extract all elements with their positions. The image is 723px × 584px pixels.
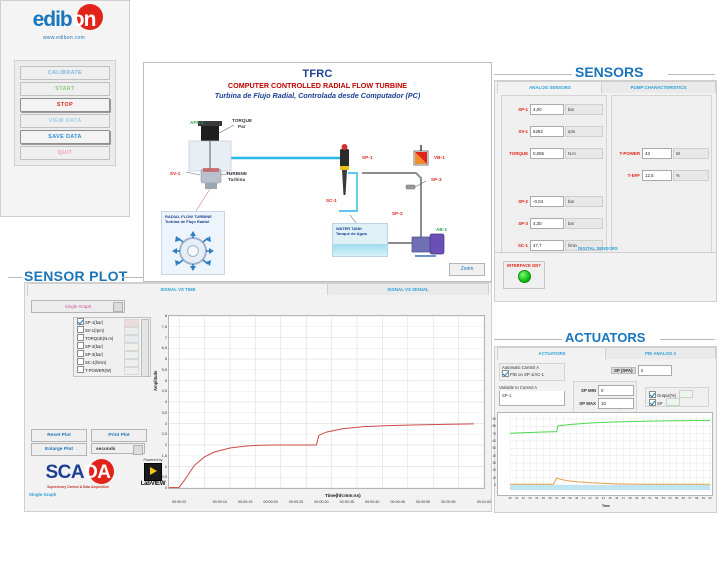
pump-field-t-power: T-POWER43W bbox=[614, 148, 709, 159]
pid-x-tick: 58 bbox=[695, 496, 698, 500]
command-button-stop[interactable]: STOP bbox=[20, 98, 110, 112]
pid-x-tick: 54 bbox=[668, 496, 671, 500]
signal-chart-svg bbox=[169, 316, 484, 488]
diagram-title-block: TFRC COMPUTER CONTROLLED RADIAL FLOW TUR… bbox=[144, 68, 491, 100]
pid-x-tick: 42 bbox=[588, 496, 591, 500]
process-diagram: TFRC COMPUTER CONTROLLED RADIAL FLOW TUR… bbox=[143, 62, 492, 282]
plot-option-swatch bbox=[679, 390, 693, 398]
pid-x-tick: 35 bbox=[542, 496, 545, 500]
label-sc-1: SC-1 bbox=[326, 198, 337, 203]
sensor-plot-rule-left bbox=[8, 277, 22, 278]
command-button-quit[interactable]: QUIT bbox=[20, 146, 110, 160]
pid-x-tick: 57 bbox=[688, 496, 691, 500]
pid-x-tick: 59 bbox=[702, 496, 705, 500]
label-sp-2: SP-2 bbox=[392, 211, 403, 216]
chart-y-tick: 7 bbox=[145, 335, 167, 340]
legend-swatch bbox=[124, 367, 139, 375]
tab-analog-sensors[interactable]: ANALOG SENSORS bbox=[497, 81, 603, 94]
pid-x-tick: 46 bbox=[615, 496, 618, 500]
sensor-value-torque: 0,065 bbox=[530, 148, 564, 159]
pid-x-tick: 41 bbox=[582, 496, 585, 500]
legend-items: SP-1(bar)SV-1(rpm)TORQUE(N.m)SP-2(bar)SP… bbox=[74, 318, 150, 374]
limit-value[interactable]: 0 bbox=[598, 385, 634, 396]
pump-value-t-power: 43 bbox=[642, 148, 672, 159]
legend-item-sp1bar[interactable]: SP-1(bar) bbox=[74, 318, 150, 326]
legend-label: TORQUE(N.m) bbox=[85, 336, 113, 341]
plot-tabbar: SIGNAL VS TIMESIGNAL VS SIGNAL bbox=[25, 283, 491, 296]
label-sp-1: SP-1 bbox=[362, 155, 373, 160]
automatic-control-checkbox[interactable]: PID on SP-1/AC-1 bbox=[500, 370, 564, 377]
zoom-button[interactable]: Zoom bbox=[449, 263, 485, 276]
chart-y-tick: 4 bbox=[145, 399, 167, 404]
chart-y-tick: 7,5 bbox=[145, 324, 167, 329]
legend-item-sv1rpm[interactable]: SV-1(rpm) bbox=[74, 326, 150, 334]
status-led-green bbox=[518, 270, 531, 283]
limit-sp-min: SP MIN0 bbox=[576, 385, 634, 396]
edibon-url: www.edibon.com bbox=[0, 35, 128, 41]
chart-x-tick: 00:00:55 bbox=[441, 500, 455, 504]
label-sp-3: SP-3 bbox=[431, 177, 442, 182]
turbine-box-label-es: Turbina de Flujo Radial bbox=[165, 219, 209, 224]
plot-options-box: Output(%)SP bbox=[645, 387, 709, 407]
chart-x-tick: 00:00:02 bbox=[172, 500, 186, 504]
time-unit-value: seconds bbox=[96, 447, 115, 452]
tank-label-es: Tanque de Agua bbox=[336, 231, 367, 236]
pid-x-tick: 56 bbox=[682, 496, 685, 500]
chart-y-tick: 6,5 bbox=[145, 345, 167, 350]
actuators-tabbar: ACTUATORSPID ANALOG 1 bbox=[495, 347, 716, 359]
sensor-field-sp-3: SP-34,30bar bbox=[506, 218, 603, 229]
label-torque-en: TORQUE bbox=[232, 118, 252, 123]
tab-pump-characteristics[interactable]: PUMP CHARACTERISTICS bbox=[601, 81, 716, 93]
pid-x-tick: 43 bbox=[595, 496, 598, 500]
chart-x-tick: 00:00:20 bbox=[263, 500, 277, 504]
legend-label: SC-1(l/min) bbox=[85, 360, 106, 365]
label-turbine-en: TURBINE bbox=[226, 171, 247, 176]
sensor-field-sv-1: SV-16282rpm bbox=[506, 126, 603, 137]
digital-sensors-panel: INTERFACE ON? bbox=[494, 252, 717, 302]
limit-value[interactable]: 10 bbox=[598, 398, 634, 409]
legend-item-sp3bar[interactable]: SP-3(bar) bbox=[74, 350, 150, 358]
sensor-unit-torque: N.m bbox=[565, 148, 603, 159]
time-unit-chevron-icon bbox=[133, 445, 143, 455]
variable-to-control-value: SP-1 bbox=[500, 391, 564, 398]
sensor-label-torque: TORQUE bbox=[506, 151, 528, 156]
command-button-start[interactable]: START bbox=[20, 82, 110, 96]
label-sv-1: SV-1 bbox=[170, 171, 180, 176]
chart-x-tick: 00:00:10 bbox=[213, 500, 227, 504]
scada-logo: SCADA Supervisory Control & Data Acquisi… bbox=[30, 462, 126, 489]
radial-turbine-illustration: RADIAL FLOW TURBINE Turbina de Flujo Rad… bbox=[161, 211, 225, 275]
chart-x-axis-title: Time(hh:mm:ss) bbox=[325, 493, 361, 498]
pid-x-tick: 36 bbox=[548, 496, 551, 500]
actuators-rule-left bbox=[494, 339, 562, 340]
pid-x-tick: 30 bbox=[508, 496, 511, 500]
pid-x-axis: 3031323334353637383940414243444546474849… bbox=[498, 495, 712, 501]
legend-label: SP-1(bar) bbox=[85, 320, 103, 325]
pump-label-t-power: T-POWER bbox=[614, 151, 640, 156]
sensor-field-sp-2: SP-2-0,04bar bbox=[506, 196, 603, 207]
pid-x-tick: 37 bbox=[555, 496, 558, 500]
checkbox-glyph bbox=[77, 342, 84, 349]
command-button-view-data[interactable]: VIEW DATA bbox=[20, 114, 110, 128]
sensor-label-sv-1: SV-1 bbox=[506, 129, 528, 134]
command-panel: edibon www.edibon.com CALIBRATESTARTSTOP… bbox=[0, 0, 130, 217]
legend-label: SV-1(rpm) bbox=[85, 328, 104, 333]
sensor-unit-sv-1: rpm bbox=[565, 126, 603, 137]
sensor-label-sp-1: SP-1 bbox=[506, 107, 528, 112]
legend-item-torquenm[interactable]: TORQUE(N.m) bbox=[74, 334, 150, 342]
legend-label: SP-3(bar) bbox=[85, 352, 103, 357]
setpoint-field[interactable]: SP (SPA) 4 bbox=[611, 365, 672, 376]
pid-x-tick: 55 bbox=[675, 496, 678, 500]
checkbox-glyph bbox=[77, 326, 84, 333]
label-afr-1: AFR-1 bbox=[190, 120, 204, 125]
limit-label: SP MIN bbox=[576, 388, 596, 393]
sensors-rule-right bbox=[668, 74, 715, 75]
turbine-wheel-icon bbox=[162, 229, 224, 273]
chart-y-tick: 3 bbox=[145, 421, 167, 426]
tab-signal-vs-signal[interactable]: SIGNAL VS SIGNAL bbox=[327, 283, 489, 295]
checkbox-glyph bbox=[649, 391, 656, 398]
label-torque-es: Par bbox=[238, 124, 246, 129]
chart-x-tick: 00:00:35 bbox=[340, 500, 354, 504]
signal-legend: SP-1(bar)SV-1(rpm)TORQUE(N.m)SP-2(bar)SP… bbox=[73, 317, 151, 377]
chart-y-tick: 2 bbox=[145, 442, 167, 447]
checkbox-glyph bbox=[77, 318, 84, 325]
checkbox-glyph bbox=[77, 350, 84, 357]
sensors-title: SENSORS bbox=[575, 64, 643, 80]
pid-x-tick: 52 bbox=[655, 496, 658, 500]
chart-y-axis-title: Amplitude bbox=[153, 371, 158, 391]
chart-y-tick: 8 bbox=[145, 313, 167, 318]
diagram-code: TFRC bbox=[144, 68, 491, 80]
plot-option-output[interactable]: Output(%) bbox=[649, 390, 693, 398]
setpoint-limits-box: SP MIN0SP MAX10 bbox=[573, 381, 637, 413]
sensor-unit-sp-2: bar bbox=[565, 196, 603, 207]
pump-label-t-eff: T-EFF bbox=[614, 173, 640, 178]
legend-item-sc1lmin[interactable]: SC-1(l/min) bbox=[74, 358, 150, 366]
sensor-unit-sp-3: bar bbox=[565, 218, 603, 229]
legend-label: SP-2(bar) bbox=[85, 344, 103, 349]
sensors-rule-left bbox=[494, 74, 572, 75]
pid-x-tick: 60 bbox=[708, 496, 711, 500]
digital-sensor-label: INTERFACE ON? bbox=[504, 262, 544, 268]
chart-x-tick: 00:00:25 bbox=[289, 500, 303, 504]
command-button-stack: CALIBRATESTARTSTOPVIEW DATASAVE DATAQUIT bbox=[14, 60, 116, 166]
checkbox-glyph bbox=[649, 399, 656, 406]
scada-logo-text: SCA bbox=[45, 462, 84, 483]
sensor-label-sp-2: SP-2 bbox=[506, 199, 528, 204]
scada-application-window: edibon www.edibon.com CALIBRATESTARTSTOP… bbox=[0, 0, 723, 584]
chart-x-tick: 00:00:45 bbox=[390, 500, 404, 504]
time-unit-select[interactable]: seconds bbox=[91, 443, 145, 454]
tab-pid-analog-1[interactable]: PID ANALOG 1 bbox=[605, 347, 716, 359]
pid-x-tick: 49 bbox=[635, 496, 638, 500]
limit-sp-max: SP MAX10 bbox=[576, 398, 634, 409]
chart-x-tick: 00:00:30 bbox=[314, 500, 328, 504]
plot-option-label: SP bbox=[657, 401, 663, 406]
checkbox-glyph bbox=[77, 358, 84, 365]
sensor-label-sp-3: SP-3 bbox=[506, 221, 528, 226]
sensors-tabbar: ANALOG SENSORSPUMP CHARACTERISTICS bbox=[495, 81, 716, 93]
pid-x-tick: 53 bbox=[662, 496, 665, 500]
pid-x-tick: 44 bbox=[602, 496, 605, 500]
pump-unit-t-power: W bbox=[673, 148, 709, 159]
graph-mode-value: Single Graph bbox=[65, 304, 92, 309]
pid-x-tick: 47 bbox=[622, 496, 625, 500]
legend-label: T-POWER(W) bbox=[85, 368, 111, 373]
pid-x-tick: 33 bbox=[528, 496, 531, 500]
powered-by-label: Powered by bbox=[132, 458, 174, 462]
sensor-value-sc-1: 47,7 bbox=[530, 240, 564, 251]
digital-sensor-interface-on: INTERFACE ON? bbox=[503, 261, 545, 289]
plot-option-sp[interactable]: SP bbox=[649, 398, 680, 406]
scada-logo-text2: DA bbox=[84, 462, 110, 483]
chart-x-tick: 00:00:40 bbox=[365, 500, 379, 504]
checkbox-glyph bbox=[502, 370, 509, 377]
diagram-title-es: Turbina de Flujo Radial, Controlada desd… bbox=[144, 91, 491, 100]
diagram-title-en: COMPUTER CONTROLLED RADIAL FLOW TURBINE bbox=[144, 81, 491, 90]
chart-x-tick: 00:00:15 bbox=[238, 500, 252, 504]
pump-field-t-eff: T-EFF12,5% bbox=[614, 170, 709, 181]
water-tank: WATER TANK Tanque de Agua bbox=[332, 223, 388, 257]
label-vb-1: VB-1 bbox=[434, 155, 445, 160]
chart-y-tick: 6 bbox=[145, 356, 167, 361]
automatic-control-check-label: PID on SP-1/AC-1 bbox=[510, 372, 544, 377]
chart-x-tick: 00:00:50 bbox=[416, 500, 430, 504]
checkbox-glyph bbox=[77, 366, 84, 373]
label-turbine-es: Turbina bbox=[228, 177, 245, 182]
pid-chart-svg bbox=[498, 413, 712, 495]
sensor-value-sp-2: -0,04 bbox=[530, 196, 564, 207]
variable-to-control-label: Variable to Control A bbox=[499, 385, 537, 390]
tank-water bbox=[333, 244, 387, 256]
actuators-title: ACTUATORS bbox=[565, 330, 645, 345]
reset-plot-button[interactable]: Reset Plot bbox=[31, 429, 87, 442]
chart-y-tick: 2,5 bbox=[145, 431, 167, 436]
command-button-save-data[interactable]: SAVE DATA bbox=[20, 130, 110, 144]
sensor-label-sc-1: SC-1 bbox=[506, 243, 528, 248]
digital-sensors-label: DIGITAL SENSORS bbox=[578, 246, 618, 251]
setpoint-label: SP (SPA) bbox=[611, 367, 636, 374]
enlarge-plot-button[interactable]: Enlarge Plot bbox=[31, 443, 87, 456]
legend-item-tpowerw[interactable]: T-POWER(W) bbox=[74, 366, 150, 374]
pid-x-tick: 40 bbox=[575, 496, 578, 500]
automatic-control-box: Automatic Control A PID on SP-1/AC-1 bbox=[499, 363, 565, 381]
pid-chart: 9080706050403020100 30313233343536373839… bbox=[497, 412, 713, 496]
tab-signal-vs-time[interactable]: SIGNAL VS TIME bbox=[27, 283, 329, 296]
label-ab-1: AB-1 bbox=[436, 227, 447, 232]
labview-logo: Powered by LabVIEW bbox=[132, 458, 174, 487]
pid-x-tick: 31 bbox=[515, 496, 518, 500]
pid-x-tick: 32 bbox=[522, 496, 525, 500]
pid-x-tick: 50 bbox=[642, 496, 645, 500]
edibon-logo-text: edibon bbox=[33, 8, 96, 31]
sensor-value-sp-3: 4,30 bbox=[530, 218, 564, 229]
plot-option-swatch bbox=[666, 398, 680, 406]
legend-item-sp2bar[interactable]: SP-2(bar) bbox=[74, 342, 150, 350]
chart-y-tick: 3,5 bbox=[145, 410, 167, 415]
pump-unit-t-eff: % bbox=[673, 170, 709, 181]
edibon-logo: edibon www.edibon.com bbox=[0, 8, 128, 41]
chart-y-tick: 1,5 bbox=[145, 453, 167, 458]
pid-x-tick: 51 bbox=[648, 496, 651, 500]
setpoint-value[interactable]: 4 bbox=[638, 365, 672, 376]
pid-x-tick: 39 bbox=[568, 496, 571, 500]
print-plot-button[interactable]: Print Plot bbox=[91, 429, 147, 442]
labview-play-icon bbox=[144, 463, 162, 481]
pid-x-tick: 34 bbox=[535, 496, 538, 500]
graph-mode-select[interactable]: Single Graph bbox=[31, 300, 125, 313]
command-button-calibrate[interactable]: CALIBRATE bbox=[20, 66, 110, 80]
pid-x-axis-title: Time bbox=[602, 504, 610, 508]
sensor-value-sp-1: 4,00 bbox=[530, 104, 564, 115]
chevron-down-icon bbox=[113, 302, 123, 312]
scada-logo-subtitle: Supervisory Control & Data Acquisition bbox=[30, 485, 126, 489]
pid-x-tick: 38 bbox=[562, 496, 565, 500]
sensor-field-torque: TORQUE0,065N.m bbox=[506, 148, 603, 159]
labview-name: LabVIEW bbox=[132, 481, 174, 487]
pid-x-tick: 48 bbox=[628, 496, 631, 500]
actuators-rule-right bbox=[660, 339, 715, 340]
chart-x-tick: 00:01:02 bbox=[477, 500, 491, 504]
limit-label: SP MAX bbox=[576, 401, 596, 406]
tab-actuators[interactable]: ACTUATORS bbox=[497, 347, 607, 360]
sensor-unit-sp-1: bar bbox=[565, 104, 603, 115]
variable-to-control-select[interactable]: SP-1 bbox=[499, 391, 565, 406]
signal-chart: 87,576,565,554,543,532,521,510,50 00:00:… bbox=[168, 315, 485, 489]
pid-x-tick: 45 bbox=[608, 496, 611, 500]
checkbox-glyph bbox=[77, 334, 84, 341]
sensor-field-sp-1: SP-14,00bar bbox=[506, 104, 603, 115]
single-graph-tag: Single Graph bbox=[29, 492, 56, 497]
sensor-value-sv-1: 6282 bbox=[530, 126, 564, 137]
pump-value-t-eff: 12,5 bbox=[642, 170, 672, 181]
